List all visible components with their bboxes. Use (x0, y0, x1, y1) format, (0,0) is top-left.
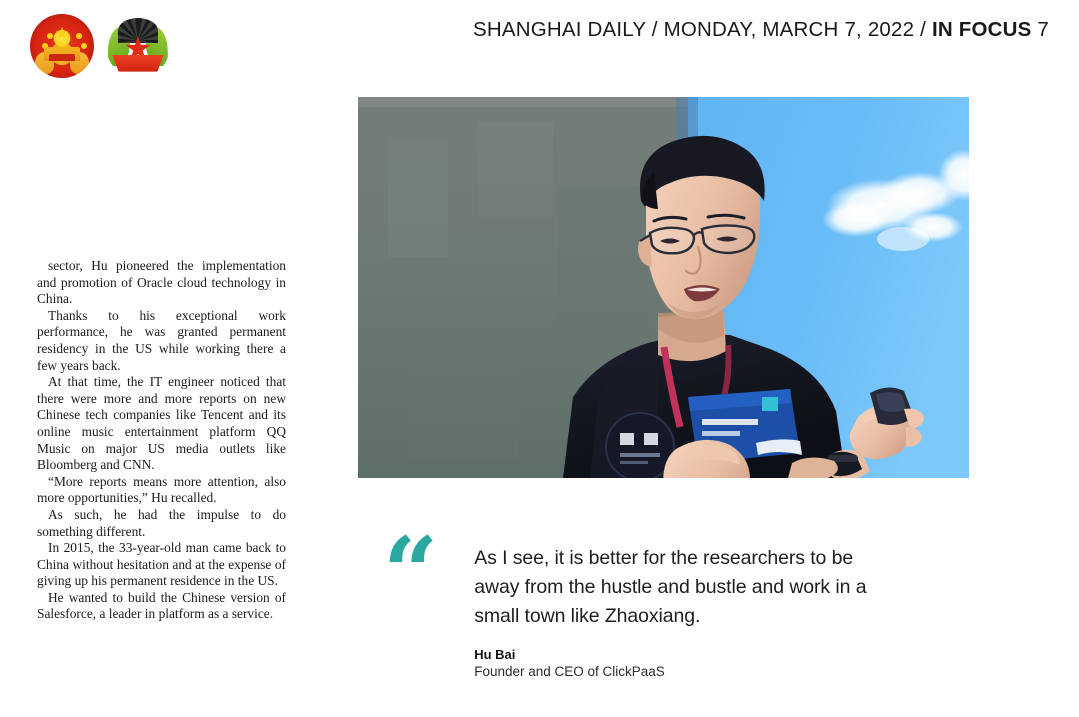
masthead-section: IN FOCUS (932, 18, 1032, 41)
article-paragraph: He wanted to build the Chinese version o… (37, 590, 286, 623)
masthead-date: MONDAY, MARCH 7, 2022 (664, 18, 915, 41)
masthead: SHANGHAI DAILY / MONDAY, MARCH 7, 2022 /… (473, 18, 1049, 42)
quote-attribution-name: Hu Bai (474, 647, 894, 662)
quote-body: As I see, it is better for the researche… (474, 538, 894, 679)
article-paragraph: sector, Hu pioneered the implementation … (37, 258, 286, 308)
article-paragraph: As such, he had the impulse to do someth… (37, 507, 286, 540)
emblem-star-small (81, 43, 87, 49)
article-paragraph: Thanks to his exceptional work performan… (37, 308, 286, 374)
photo-illustration (358, 97, 969, 478)
emblem-tiananmen-gate (44, 47, 80, 61)
article-photo (358, 97, 969, 478)
quote-text: As I see, it is better for the researche… (474, 544, 894, 631)
emblem-banner (112, 55, 163, 72)
emblem-star-large (56, 27, 69, 40)
emblem-star-small (47, 33, 53, 39)
pull-quote: “ As I see, it is better for the researc… (383, 538, 943, 679)
quote-mark-icon: “ (383, 538, 438, 679)
article-paragraph: At that time, the IT engineer noticed th… (37, 374, 286, 474)
masthead-separator-2: / (914, 18, 932, 41)
masthead-separator-1: / (646, 18, 664, 41)
article-paragraph: “More reports means more attention, also… (37, 474, 286, 507)
quote-attribution-role: Founder and CEO of ClickPaaS (474, 664, 894, 679)
national-emblem-of-china-icon (30, 14, 94, 78)
masthead-page-number: 7 (1037, 18, 1049, 41)
emblem-star-small (76, 33, 82, 39)
article-text-column: sector, Hu pioneered the implementation … (37, 258, 286, 623)
cppcc-emblem-icon (106, 14, 170, 78)
masthead-publication: SHANGHAI DAILY (473, 18, 646, 41)
article-paragraph: In 2015, the 33-year-old man came back t… (37, 540, 286, 590)
emblem-group (30, 14, 170, 78)
